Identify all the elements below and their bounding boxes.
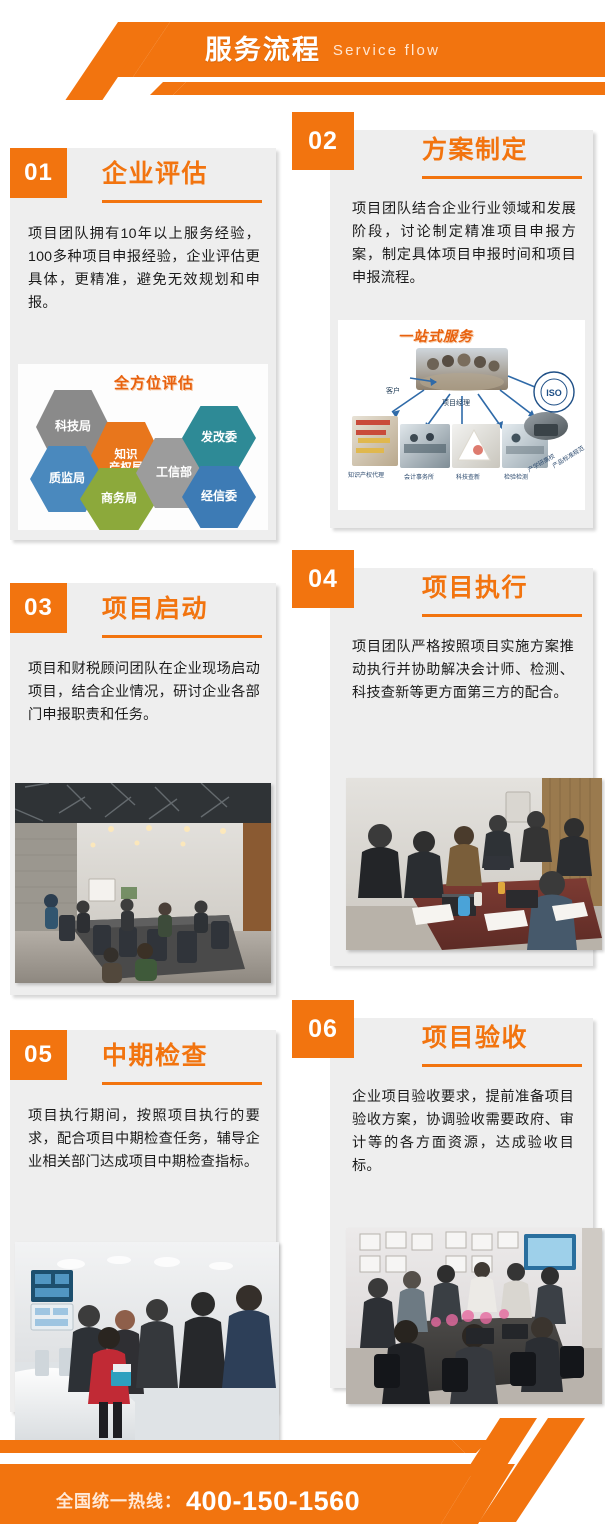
card-03-photo [15, 783, 271, 983]
card-05-photo [15, 1242, 279, 1442]
card-05[interactable]: 05 中期检查 项目执行期间，按照项目执行的要求，配合项目中期检查任务，辅导企业… [10, 1030, 276, 1412]
card-02[interactable]: 02 方案制定 项目团队结合企业行业领域和发展阶段，讨论制定精准项目申报方案，制… [330, 130, 593, 528]
card-01-title-rule [102, 200, 262, 203]
card-06-photo [346, 1228, 602, 1404]
card-04[interactable]: 04 项目执行 项目团队严格按照项目实施方案推动执行并协助解决会计师、检测、科技… [330, 568, 593, 966]
card-01-body: 项目团队拥有10年以上服务经验，100多种项目申报经验，企业评估更具体，更精准，… [28, 223, 260, 315]
card-06[interactable]: 06 项目验收 企业项目验收要求，提前准备项目验收方案，协调验收需要政府、审计等… [330, 1018, 593, 1388]
card-06-photo-image [346, 1228, 602, 1404]
header-banner: 服务流程 Service flow [0, 0, 605, 100]
card-06-number-badge: 06 [292, 1000, 354, 1058]
card-02-number-badge: 02 [292, 112, 354, 170]
card-02-title-rule [422, 176, 582, 179]
card-02-title: 方案制定 [422, 138, 528, 163]
card-03-photo-image [15, 783, 271, 983]
one-stop-label-jianyan-jiance: 检验检测 [504, 472, 528, 481]
card-06-title: 项目验收 [422, 1026, 528, 1051]
hex-node-label: 商务局 [101, 492, 137, 505]
card-03-body: 项目和财税顾问团队在企业现场启动项目，结合企业情况，研讨企业各部门申报职责和任务… [28, 658, 260, 727]
header-title-group: 服务流程 Service flow [0, 22, 605, 78]
card-05-photo-image [15, 1242, 279, 1442]
service-flow-infographic: 服务流程 Service flow 01 企业评估 项目团队拥有10年以上服务经… [0, 0, 605, 1538]
footer-hotline-number: 400-150-1560 [186, 1488, 360, 1515]
card-01-title: 企业评估 [102, 162, 208, 187]
card-03-number-badge: 03 [10, 583, 67, 633]
hex-node-label: 质监局 [49, 472, 85, 485]
card-03[interactable]: 03 项目启动 项目和财税顾问团队在企业现场启动项目，结合企业情况，研讨企业各部… [10, 583, 276, 995]
card-01[interactable]: 01 企业评估 项目团队拥有10年以上服务经验，100多种项目申报经验，企业评估… [10, 148, 276, 540]
card-03-title-rule [102, 635, 262, 638]
footer-hotline-label: 全国统一热线： [56, 1493, 182, 1510]
one-stop-label-kuaiji-shiwusuo: 会计事务所 [404, 472, 434, 481]
card-04-photo-image [346, 778, 602, 950]
hex-node-label: 工信部 [156, 466, 192, 479]
card-04-title: 项目执行 [422, 576, 528, 601]
card-04-body: 项目团队严格按照项目实施方案推动执行并协助解决会计师、检测、科技查新等更方面第三… [352, 636, 574, 705]
hex-node-label: 科技局 [55, 420, 91, 433]
one-stop-diagram-graphics: ISO [338, 320, 585, 510]
card-02-body: 项目团队结合企业行业领域和发展阶段，讨论制定精准项目申报方案，制定具体项目申报时… [352, 198, 576, 290]
card-06-title-rule [422, 1064, 582, 1067]
hexagon-diagram-title: 全方位评估 [114, 372, 194, 393]
card-03-title: 项目启动 [102, 597, 208, 622]
card-01-number-badge: 01 [10, 148, 67, 198]
card-04-photo [346, 778, 602, 950]
card-05-title-rule [102, 1082, 262, 1085]
one-stop-label-xiangmu-jingli: 项目经理 [442, 398, 470, 408]
header-title-cn: 服务流程 [205, 37, 321, 64]
footer-hotline-group: 全国统一热线： 400-150-1560 [0, 1478, 480, 1524]
card-05-title: 中期检查 [102, 1044, 208, 1069]
card-04-number-badge: 04 [292, 550, 354, 608]
svg-text:ISO: ISO [546, 388, 562, 398]
hex-node-label: 发改委 [201, 431, 237, 444]
card-02-figure-one-stop-diagram: 一站式服务 [338, 320, 585, 510]
card-04-title-rule [422, 614, 582, 617]
card-05-number-badge: 05 [10, 1030, 67, 1080]
card-06-body: 企业项目验收要求，提前准备项目验收方案，协调验收需要政府、审计等的各方面资源，达… [352, 1086, 574, 1178]
header-title-en: Service flow [333, 43, 440, 58]
footer-banner: 全国统一热线： 400-150-1560 [0, 1418, 605, 1538]
one-stop-label-keji-chaxin: 科技查新 [456, 472, 480, 481]
card-01-figure-hexagon-diagram: 全方位评估 科技局 知识 产权局 质监局 商务局 工信部 发改委 经信委 [18, 364, 268, 530]
hex-node-label: 经信委 [201, 490, 237, 503]
one-stop-label-zhishi-chanquan-daili: 知识产权代理 [348, 470, 384, 479]
card-05-body: 项目执行期间，按照项目执行的要求，配合项目中期检查任务，辅导企业相关部门达成项目… [28, 1105, 260, 1174]
one-stop-label-kehu: 客户 [386, 386, 400, 396]
